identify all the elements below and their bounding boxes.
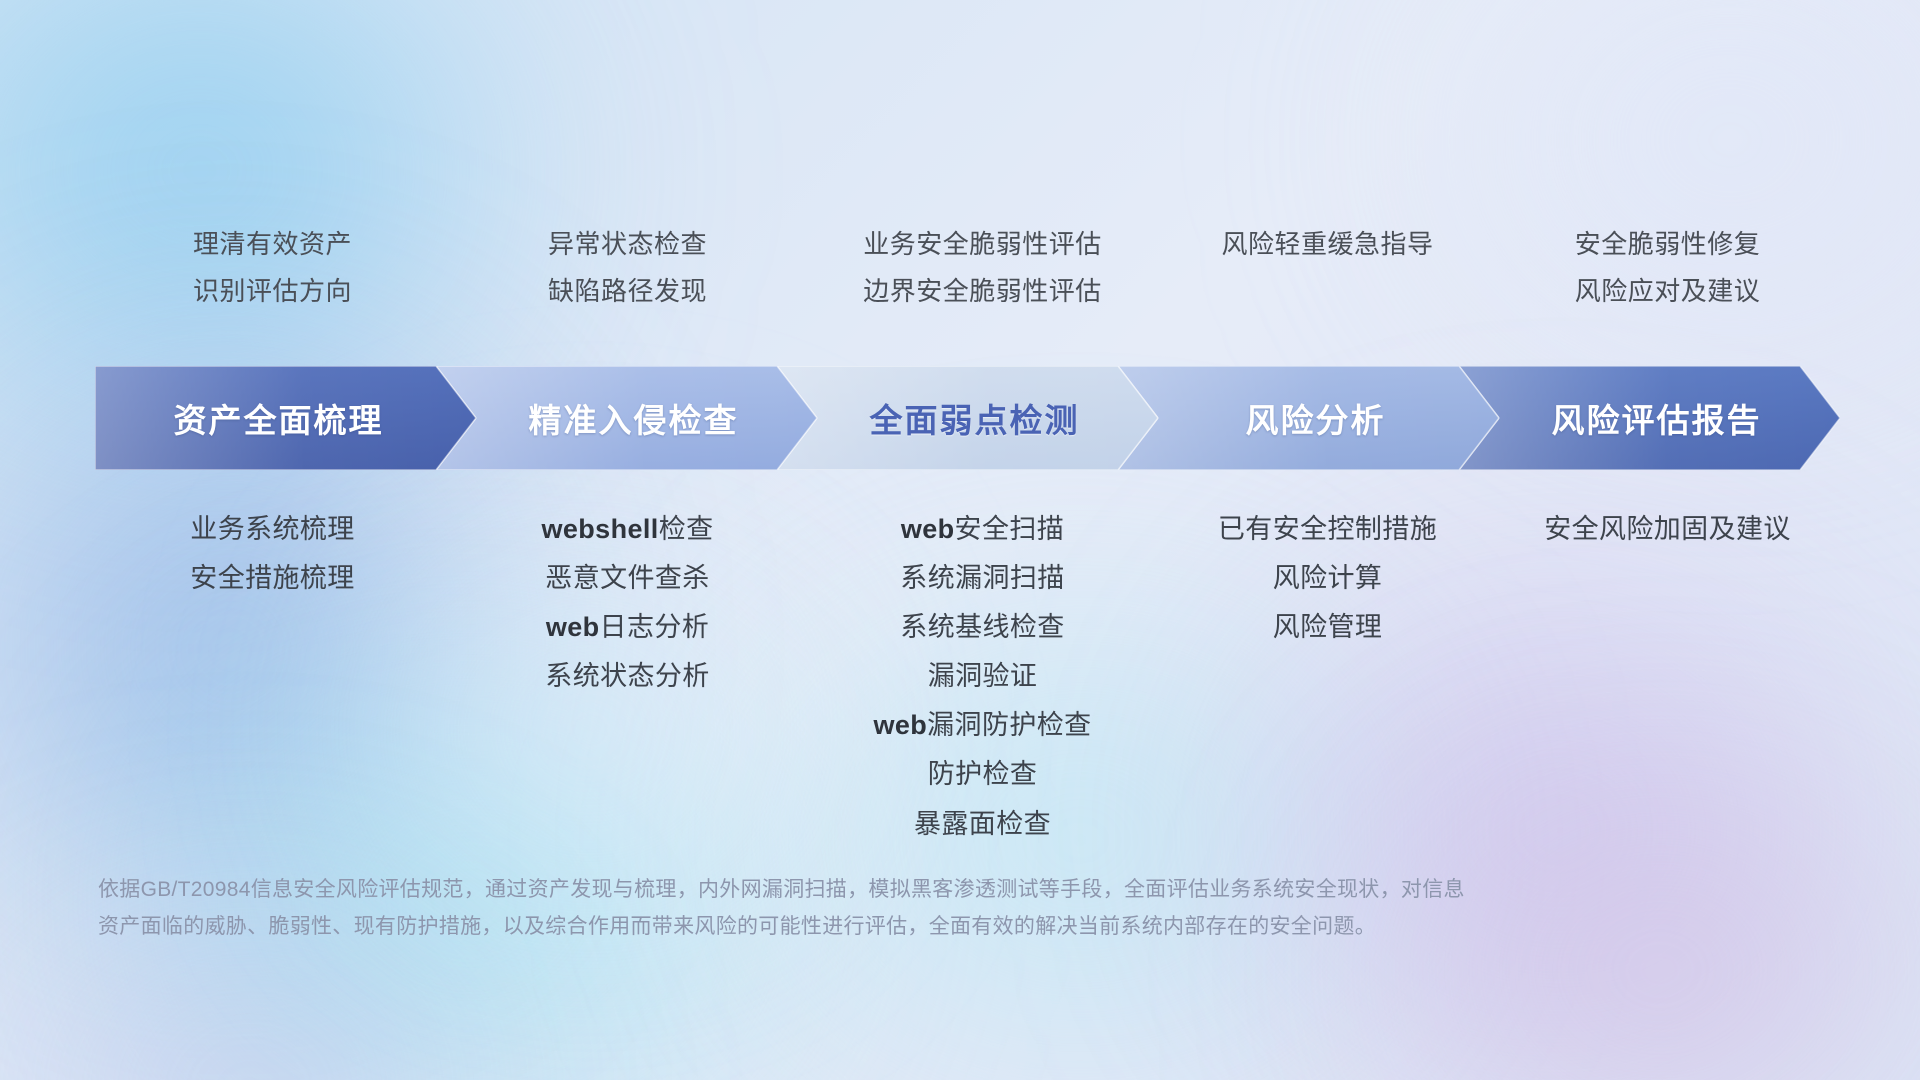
task-item: 系统基线检查: [900, 610, 1064, 645]
task-item: webshell检查: [541, 512, 713, 547]
top-note-line: 边界安全脆弱性评估: [863, 275, 1102, 308]
top-note-line: 识别评估方向: [193, 275, 352, 308]
content-layer: 理清有效资产识别评估方向异常状态检查缺陷路径发现业务安全脆弱性评估边界安全脆弱性…: [0, 0, 1920, 1080]
process-stage-2[interactable]: 精准入侵检查: [436, 366, 817, 470]
task-item: 业务系统梳理: [190, 512, 354, 547]
task-item: web漏洞防护检查: [873, 708, 1091, 743]
top-note-line: 风险轻重缓急指导: [1221, 228, 1433, 261]
top-note-line: 风险应对及建议: [1575, 275, 1761, 308]
process-stage-label: 精准入侵检查: [529, 394, 739, 442]
task-item: 风险计算: [1273, 561, 1383, 596]
process-stage-5[interactable]: 风险评估报告: [1459, 366, 1840, 470]
top-note-column: 理清有效资产识别评估方向: [95, 228, 450, 307]
process-stage-label: 风险评估报告: [1552, 394, 1762, 442]
top-note-column: 风险轻重缓急指导: [1160, 228, 1495, 261]
top-note-column: 异常状态检查缺陷路径发现: [450, 228, 805, 307]
task-item: 防护检查: [928, 757, 1038, 792]
process-stage-4[interactable]: 风险分析: [1118, 366, 1499, 470]
task-column: 已有安全控制措施风险计算风险管理: [1160, 512, 1495, 645]
task-item: 风险管理: [1273, 610, 1383, 645]
bottom-tasks-row: 业务系统梳理安全措施梳理webshell检查恶意文件查杀web日志分析系统状态分…: [95, 512, 1840, 842]
task-item: 系统状态分析: [545, 659, 709, 694]
footer-line-2: 资产面临的威胁、脆弱性、现有防护措施，以及综合作用而带来风险的可能性进行评估，全…: [98, 909, 1658, 946]
footer-line-1: 依据GB/T20984信息安全风险评估规范，通过资产发现与梳理，内外网漏洞扫描，…: [98, 872, 1658, 909]
top-note-line: 安全脆弱性修复: [1575, 228, 1761, 261]
top-note-line: 理清有效资产: [193, 228, 352, 261]
process-stage-1[interactable]: 资产全面梳理: [95, 366, 476, 470]
process-stage-label: 全面弱点检测: [870, 394, 1080, 442]
task-column: 安全风险加固及建议: [1495, 512, 1840, 547]
task-item: 暴露面检查: [914, 807, 1051, 842]
top-note-line: 业务安全脆弱性评估: [863, 228, 1102, 261]
task-item: 安全措施梳理: [190, 561, 354, 596]
process-stage-label: 资产全面梳理: [174, 394, 384, 442]
process-stage-label: 风险分析: [1246, 394, 1386, 442]
task-item: 恶意文件查杀: [545, 561, 709, 596]
task-item: 安全风险加固及建议: [1544, 512, 1791, 547]
task-column: web安全扫描系统漏洞扫描系统基线检查漏洞验证web漏洞防护检查防护检查暴露面检…: [805, 512, 1160, 842]
task-item: 已有安全控制措施: [1218, 512, 1437, 547]
task-item: 系统漏洞扫描: [900, 561, 1064, 596]
slide-canvas: 理清有效资产识别评估方向异常状态检查缺陷路径发现业务安全脆弱性评估边界安全脆弱性…: [0, 0, 1920, 1080]
top-note-column: 安全脆弱性修复风险应对及建议: [1495, 228, 1840, 307]
process-stage-3[interactable]: 全面弱点检测: [777, 366, 1158, 470]
top-note-line: 异常状态检查: [548, 228, 707, 261]
task-item: web日志分析: [546, 610, 709, 645]
process-arrow-bar: 资产全面梳理精准入侵检查全面弱点检测风险分析风险评估报告: [95, 366, 1840, 470]
top-note-line: 缺陷路径发现: [548, 275, 707, 308]
task-column: 业务系统梳理安全措施梳理: [95, 512, 450, 596]
task-column: webshell检查恶意文件查杀web日志分析系统状态分析: [450, 512, 805, 694]
top-notes-row: 理清有效资产识别评估方向异常状态检查缺陷路径发现业务安全脆弱性评估边界安全脆弱性…: [95, 228, 1840, 307]
footer-description: 依据GB/T20984信息安全风险评估规范，通过资产发现与梳理，内外网漏洞扫描，…: [98, 872, 1658, 946]
top-note-column: 业务安全脆弱性评估边界安全脆弱性评估: [805, 228, 1160, 307]
task-item: 漏洞验证: [928, 659, 1038, 694]
task-item: web安全扫描: [901, 512, 1064, 547]
